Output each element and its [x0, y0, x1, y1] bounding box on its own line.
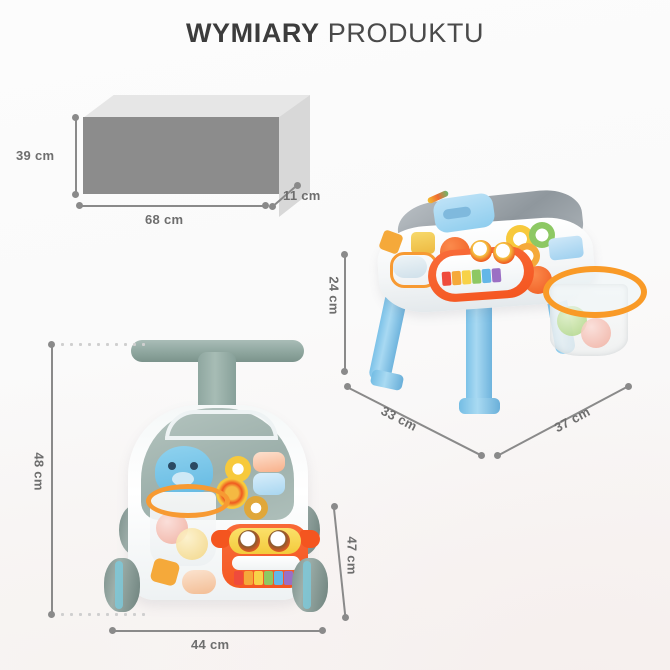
walker-fish-mirror-toy	[182, 570, 216, 594]
walker-width-label: 44 cm	[191, 637, 229, 652]
walker-height-dot-top	[48, 341, 55, 348]
walker-crab-eye-right	[268, 530, 290, 552]
infographic-canvas: WYMIARY PRODUKTU 39 cm 68 cm 11 cm	[0, 0, 670, 670]
walker-crab-sticker	[253, 452, 285, 472]
walker-crab-claw-right	[300, 530, 320, 548]
walker-crab-claw-left	[211, 530, 231, 548]
baby-walker-illustration: 48 cm 47 cm 44 cm	[0, 0, 670, 670]
walker-height-leader-top	[58, 343, 148, 346]
walker-tyre-front-left	[115, 561, 123, 609]
walker-height-label: 48 cm	[32, 452, 47, 490]
walker-wheel-front-left	[104, 558, 140, 612]
walker-height-leader-bottom	[58, 613, 148, 616]
walker-width-dot-right	[319, 627, 326, 634]
walker-seal-eye-right	[190, 462, 198, 470]
walker-carry-handle	[165, 410, 278, 440]
walker-crab-keyboard	[234, 571, 293, 585]
walker-crab-eye-left	[238, 530, 260, 552]
walker-basket-hoop-ring	[146, 484, 230, 518]
walker-width-dot-left	[109, 627, 116, 634]
walker-height-dot-bottom	[48, 611, 55, 618]
walker-depth-dot-bottom	[342, 614, 349, 621]
walker-gear-blue	[244, 496, 268, 520]
walker-basket-ball-yellow	[176, 528, 208, 560]
walker-wheel-front-right	[292, 558, 328, 612]
walker-tyre-front-right	[303, 561, 311, 609]
walker-depth-dot-top	[331, 503, 338, 510]
walker-shell-sticker	[253, 473, 285, 495]
walker-crab-icon-strip	[232, 556, 300, 570]
walker-height-line	[51, 344, 53, 614]
walker-depth-label: 47 cm	[345, 536, 360, 574]
walker-seal-eye-left	[168, 462, 176, 470]
walker-width-line	[112, 630, 322, 632]
